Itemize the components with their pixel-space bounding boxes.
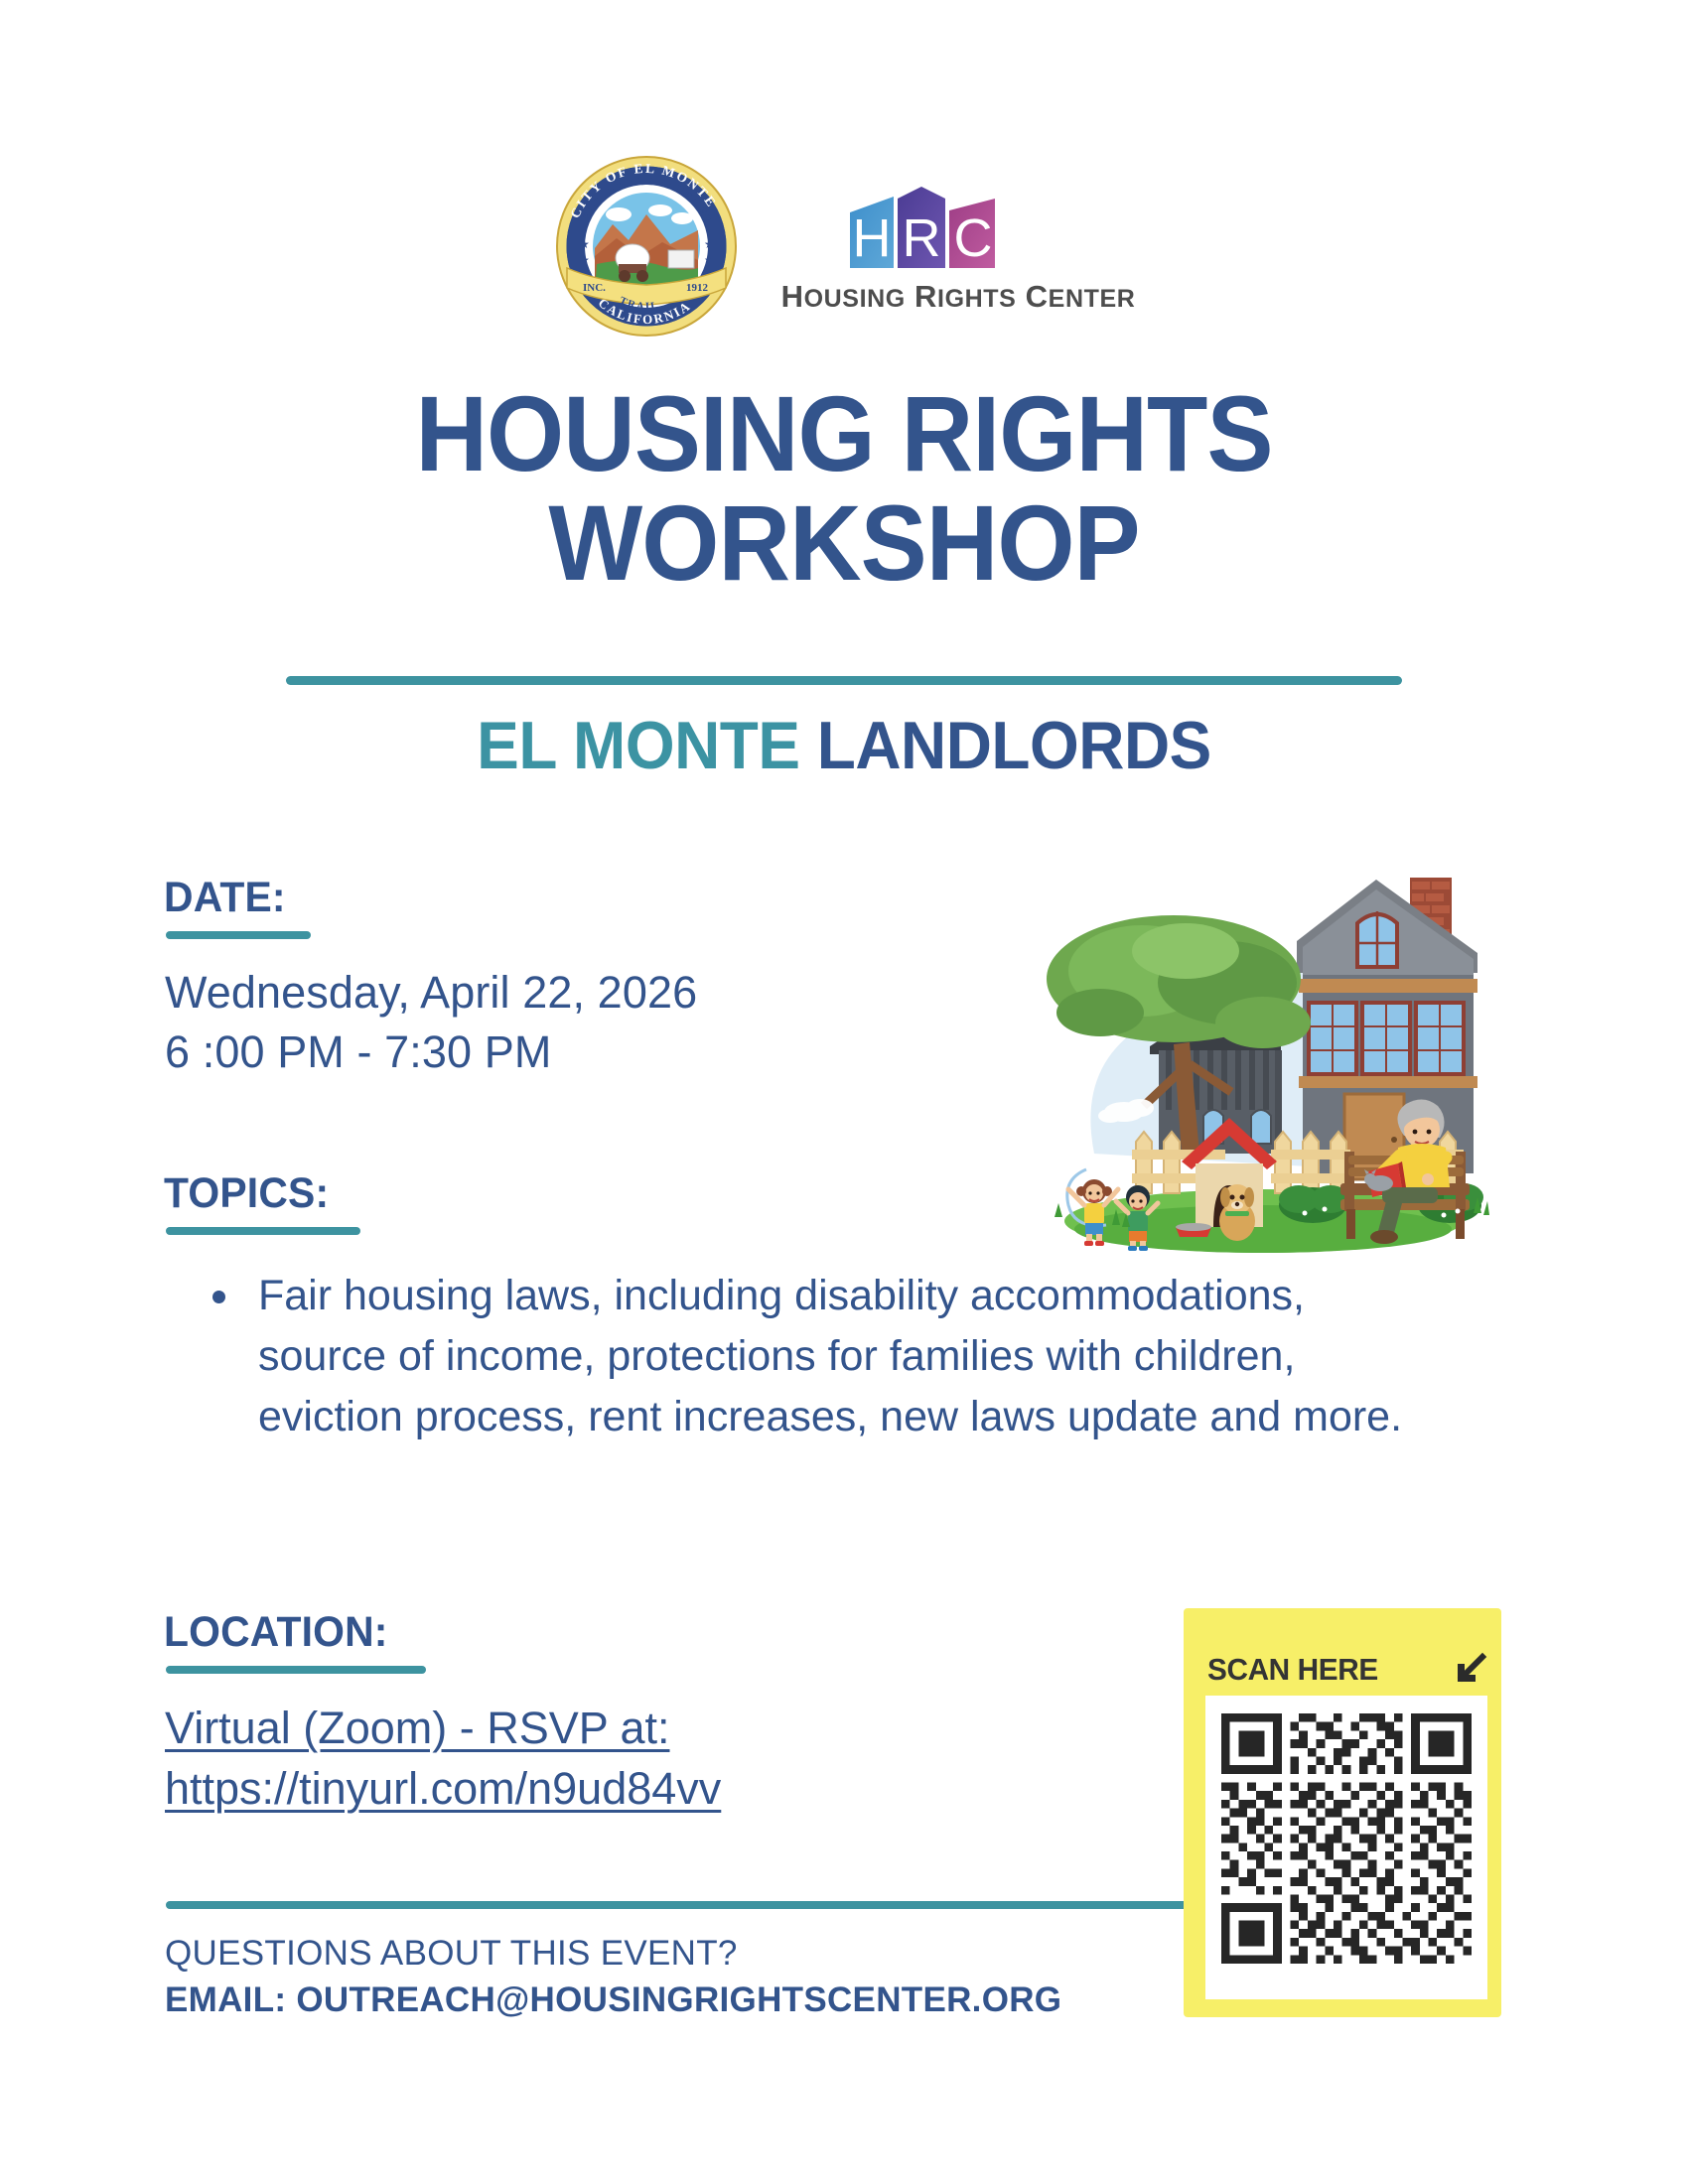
- location-details[interactable]: Virtual (Zoom) - RSVP at: https://tinyur…: [165, 1698, 721, 1819]
- hrc-house-logo-icon: H R C: [844, 185, 1072, 270]
- subtitle-rest: LANDLORDS: [799, 708, 1210, 783]
- scan-here-label: SCAN HERE: [1207, 1652, 1378, 1688]
- title-divider: [286, 676, 1402, 685]
- svg-text:INC.: INC.: [583, 282, 606, 294]
- list-item: Fair housing laws, including disability …: [199, 1266, 1420, 1447]
- qr-scan-panel[interactable]: SCAN HERE: [1184, 1608, 1501, 2017]
- footer-contact: QUESTIONS ABOUT THIS EVENT? EMAIL: OUTRE…: [165, 1931, 1061, 2023]
- hrc-logo: H R C HOUSING RIGHTS CENTER: [781, 179, 1136, 315]
- qr-code[interactable]: [1221, 1713, 1472, 1964]
- location-line-1[interactable]: Virtual (Zoom) - RSVP at:: [165, 1698, 670, 1758]
- section-rule-location: [166, 1666, 426, 1674]
- house-family-illustration-icon: [1015, 856, 1489, 1253]
- svg-text:★: ★: [579, 237, 590, 251]
- arrow-down-left-icon: [1450, 1650, 1489, 1690]
- title-line-2: WORKSHOP: [60, 488, 1629, 598]
- date-details: Wednesday, April 22, 2026 6 :00 PM - 7:3…: [165, 963, 697, 1082]
- flyer-page: ★ ★ ★ ★ CITY OF EL MONTE END OF THE SANT…: [0, 0, 1688, 2184]
- svg-text:C: C: [954, 208, 993, 268]
- page-title: HOUSING RIGHTS WORKSHOP: [0, 379, 1688, 598]
- date-line-1: Wednesday, April 22, 2026: [165, 963, 697, 1023]
- footer-question: QUESTIONS ABOUT THIS EVENT?: [165, 1931, 1061, 1978]
- section-rule-date: [166, 931, 311, 939]
- location-rsvp-link[interactable]: https://tinyurl.com/n9ud84vv: [165, 1758, 721, 1819]
- topics-details: Fair housing laws, including disability …: [199, 1266, 1420, 1447]
- footer-divider: [166, 1901, 1198, 1909]
- section-heading-location: LOCATION:: [164, 1608, 388, 1657]
- svg-text:★: ★: [704, 253, 715, 267]
- subtitle-highlight: EL MONTE: [477, 708, 799, 783]
- hrc-logo-name: HOUSING RIGHTS CENTER: [781, 279, 1136, 315]
- svg-text:★: ★: [704, 237, 715, 251]
- svg-text:★: ★: [579, 253, 590, 267]
- scan-here-banner: SCAN HERE: [1207, 1644, 1438, 1696]
- city-of-el-monte-seal-icon: ★ ★ ★ ★ CITY OF EL MONTE END OF THE SANT…: [553, 153, 740, 340]
- section-rule-topics: [166, 1227, 360, 1235]
- footer-email[interactable]: EMAIL: OUTREACH@HOUSINGRIGHTSCENTER.ORG: [165, 1978, 1061, 2024]
- svg-text:H: H: [853, 208, 892, 268]
- logo-row: ★ ★ ★ ★ CITY OF EL MONTE END OF THE SANT…: [0, 147, 1688, 345]
- svg-text:R: R: [903, 208, 941, 268]
- section-heading-date: DATE:: [164, 874, 286, 922]
- section-heading-topics: TOPICS:: [164, 1169, 329, 1218]
- title-line-1: HOUSING RIGHTS: [60, 379, 1629, 488]
- page-subtitle: EL MONTE LANDLORDS: [51, 707, 1637, 784]
- topics-bullet-list: Fair housing laws, including disability …: [199, 1266, 1420, 1447]
- date-line-2: 6 :00 PM - 7:30 PM: [165, 1023, 697, 1082]
- svg-text:1912: 1912: [686, 282, 709, 294]
